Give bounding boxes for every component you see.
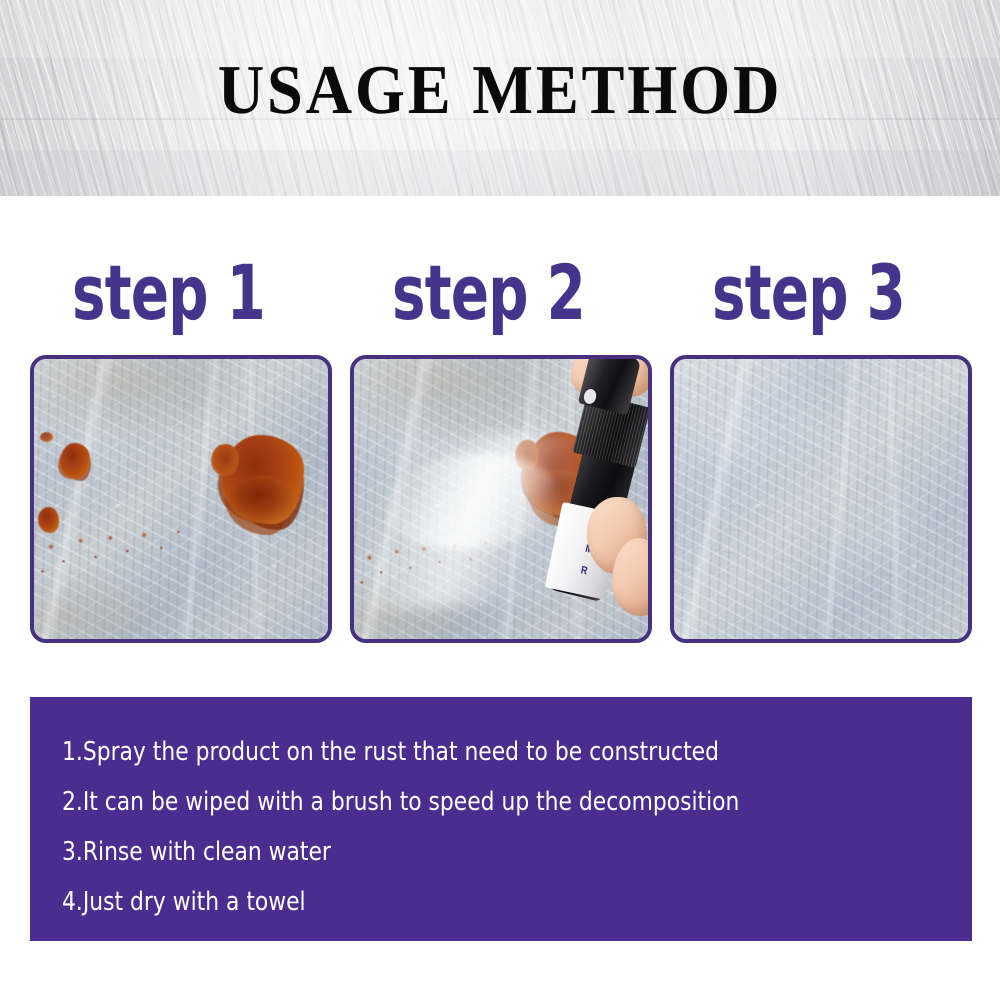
instruction-item: 1.Spray the product on the rust that nee… (62, 727, 826, 777)
rust-patch-medium (60, 443, 89, 479)
instruction-item: 4.Just dry with a towel (62, 877, 826, 927)
step-images-row: J MU R (0, 355, 1000, 643)
page-title: USAGE METHOD (40, 0, 960, 196)
instruction-item: 3.Rinse with clean water (62, 827, 826, 877)
hand-holding-bottle: J MU R (530, 355, 652, 605)
step-1-label: step 1 (72, 246, 265, 340)
step-3-label: step 3 (712, 246, 905, 340)
metal-scuff-marks (674, 359, 968, 639)
step-labels-row: step 1 step 2 step 3 (0, 246, 1000, 346)
instruction-item: 2.It can be wiped with a brush to speed … (62, 777, 826, 827)
instructions-list: 1.Spray the product on the rust that nee… (30, 697, 972, 927)
rust-patch-large (222, 435, 304, 525)
step-2-image: J MU R (350, 355, 652, 643)
step-2-label: step 2 (392, 246, 585, 340)
step-1-image (30, 355, 332, 643)
step-3-image (670, 355, 972, 643)
rust-speck (40, 432, 53, 442)
metal-surface (674, 359, 968, 639)
header-banner: USAGE METHOD (0, 0, 1000, 196)
product-label-line-3: R (579, 564, 588, 577)
instructions-panel: 1.Spray the product on the rust that nee… (30, 697, 972, 941)
rust-speck-trail (34, 516, 246, 589)
